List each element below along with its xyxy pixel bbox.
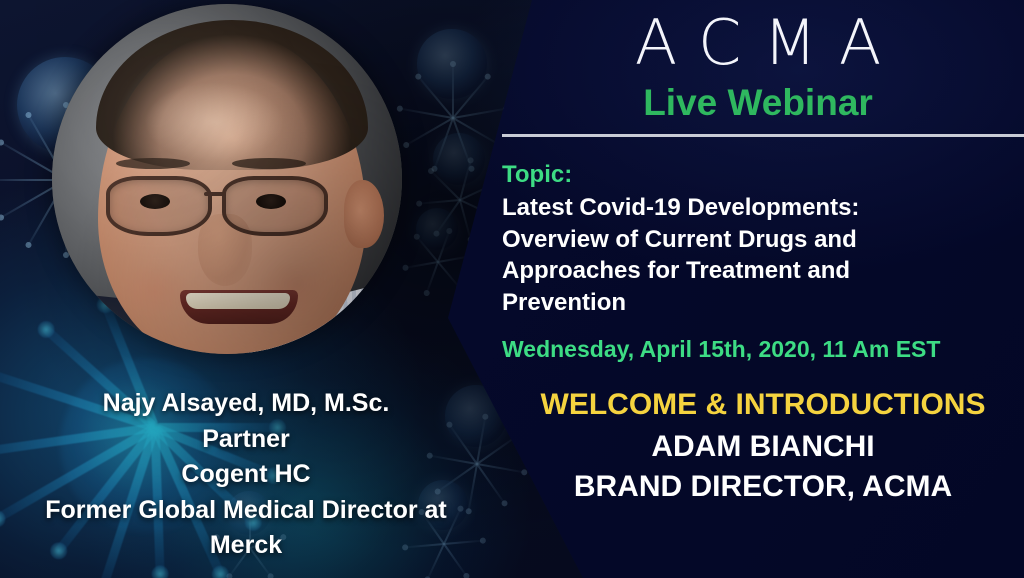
acma-logo: ACMA	[502, 12, 1014, 74]
header-divider	[502, 134, 1024, 137]
live-webinar-tagline: Live Webinar	[502, 84, 1014, 121]
webinar-datetime: Wednesday, April 15th, 2020, 11 Am EST	[502, 336, 940, 363]
topic-title: Latest Covid-19 Developments: Overview o…	[502, 192, 932, 319]
welcome-introductions-heading: WELCOME & INTRODUCTIONS	[502, 388, 1024, 421]
presenter-name: ADAM BIANCHI	[502, 430, 1024, 463]
topic-title-line: Latest Covid-19 Developments:	[502, 192, 932, 224]
speaker-former-role-line1: Former Global Medical Director at	[0, 493, 492, 529]
topic-title-line: Approaches for Treatment and	[502, 255, 932, 287]
webinar-promo-poster: ACMA Live Webinar Topic: Latest Covid-19…	[0, 0, 1024, 578]
speaker-role: Partner	[0, 422, 492, 458]
speaker-name: Najy Alsayed, MD, M.Sc.	[0, 386, 492, 422]
speaker-credentials: Najy Alsayed, MD, M.Sc. Partner Cogent H…	[0, 386, 492, 564]
speaker-company: Cogent HC	[0, 457, 492, 493]
presenter-title: BRAND DIRECTOR, ACMA	[502, 470, 1024, 503]
headshot-shading	[52, 4, 402, 354]
topic-title-line: Overview of Current Drugs and	[502, 224, 932, 256]
topic-title-line: Prevention	[502, 287, 932, 319]
topic-label: Topic:	[502, 160, 572, 189]
speaker-former-role-line2: Merck	[0, 528, 492, 564]
speaker-headshot-avatar	[52, 4, 402, 354]
